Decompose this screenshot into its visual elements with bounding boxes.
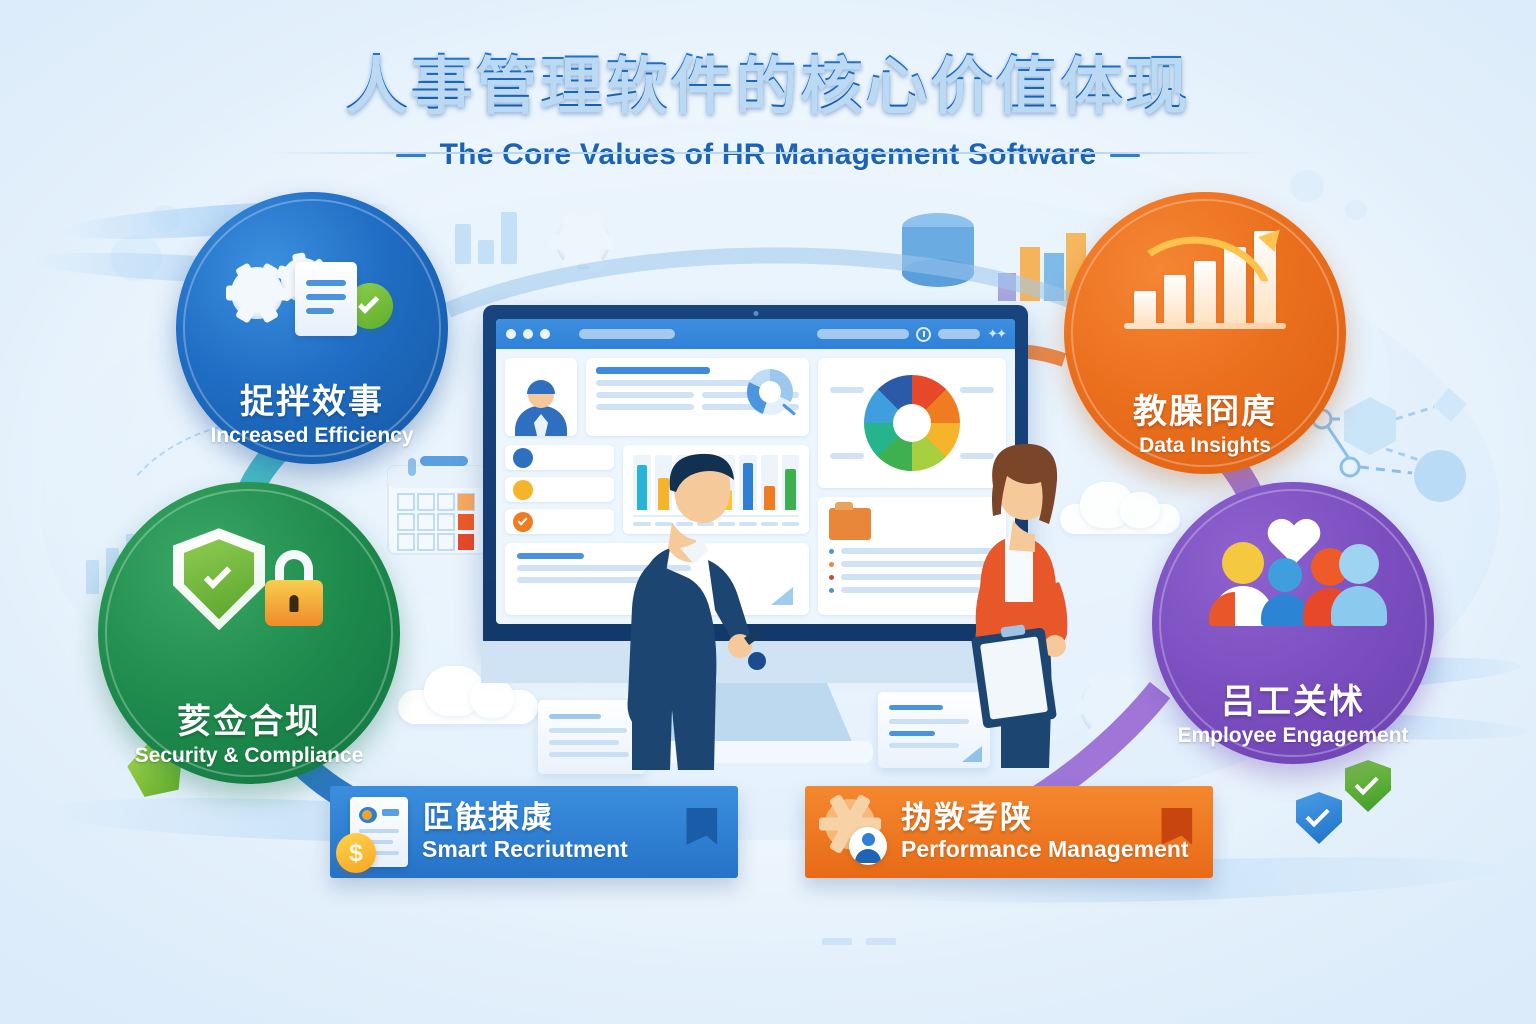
- page-title: 人事管理软件的核心价值体现 The Core Values of HR Mana…: [0, 34, 1536, 172]
- person-analyst-female: [955, 442, 1085, 772]
- maximize-dot[interactable]: [540, 329, 550, 339]
- feature-banner-smart-recruitment[interactable]: $ 𦣝䏻捒虡 Smart Recriutment: [330, 786, 738, 878]
- pie-legend-left: [830, 387, 864, 459]
- efficiency-icons: [176, 238, 448, 348]
- growth-bar-chart-icon: [1120, 229, 1290, 333]
- value-circle-data-insights[interactable]: 教臊冏庹 Data Insights: [1064, 192, 1346, 474]
- value-circle-increased-efficiency[interactable]: 捉拌效事 Increased Efficiency: [176, 192, 448, 464]
- toolbar-pill[interactable]: [938, 329, 980, 339]
- edit-icon: [513, 448, 533, 468]
- task-list: [505, 445, 614, 534]
- window-titlebar: ✦✦: [496, 319, 1015, 349]
- security-icons: [98, 524, 400, 634]
- toolbar-pill[interactable]: [817, 329, 909, 339]
- sparkle-icon: ✦✦: [987, 326, 1005, 342]
- coin-dollar-icon: $: [336, 833, 376, 873]
- close-dot[interactable]: [506, 329, 516, 339]
- people-group-icon: [1203, 526, 1383, 626]
- banner-label-cn: 𦣝䏻捒虡: [422, 801, 628, 835]
- title-divider: [263, 152, 1273, 154]
- check-icon: [513, 512, 533, 532]
- feature-banner-performance-management[interactable]: 㧑敩考陕 Performance Management: [805, 786, 1213, 878]
- employee-details-card[interactable]: [586, 358, 809, 436]
- performance-gear-user-icon: [825, 799, 887, 865]
- address-bar[interactable]: [579, 329, 675, 339]
- bar-column: [782, 455, 799, 510]
- bar-column: [761, 455, 778, 510]
- clock-icon[interactable]: [916, 327, 931, 342]
- title-english: The Core Values of HR Management Softwar…: [440, 138, 1097, 172]
- resume-icon: $: [350, 797, 408, 867]
- title-chinese: 人事管理软件的核心价值体现: [0, 34, 1536, 124]
- list-item[interactable]: [505, 509, 614, 534]
- user-avatar-icon: [849, 827, 887, 865]
- list-item[interactable]: [505, 445, 614, 470]
- webcam-icon: [753, 311, 758, 316]
- employee-profile-card[interactable]: [505, 358, 577, 436]
- padlock-icon: [263, 550, 325, 626]
- person-presenter-male: [612, 452, 762, 770]
- banner-label-cn: 㧑敩考陕: [901, 801, 1189, 835]
- shield-check-icon: [173, 528, 265, 630]
- document-icon: [295, 262, 357, 336]
- banner-label-en: Performance Management: [901, 836, 1189, 863]
- banner-label-en: Smart Recriutment: [422, 836, 628, 863]
- minimize-dot[interactable]: [523, 329, 533, 339]
- engagement-icons: [1152, 521, 1434, 631]
- list-item[interactable]: [505, 477, 614, 502]
- infographic-canvas: 人事管理软件的核心价值体现 The Core Values of HR Mana…: [0, 0, 1536, 1024]
- avatar: [514, 380, 568, 436]
- value-circle-security-compliance[interactable]: 荄佥合坝 Security & Compliance: [98, 482, 400, 784]
- donut-pie-chart: [864, 375, 960, 471]
- value-circle-employee-engagement[interactable]: 吕工关怵 Employee Engagement: [1152, 482, 1434, 764]
- target-icon: [513, 480, 533, 500]
- trend-triangle-icon: [771, 587, 793, 605]
- insights-icons: [1064, 226, 1346, 336]
- folder-icon: [829, 508, 871, 540]
